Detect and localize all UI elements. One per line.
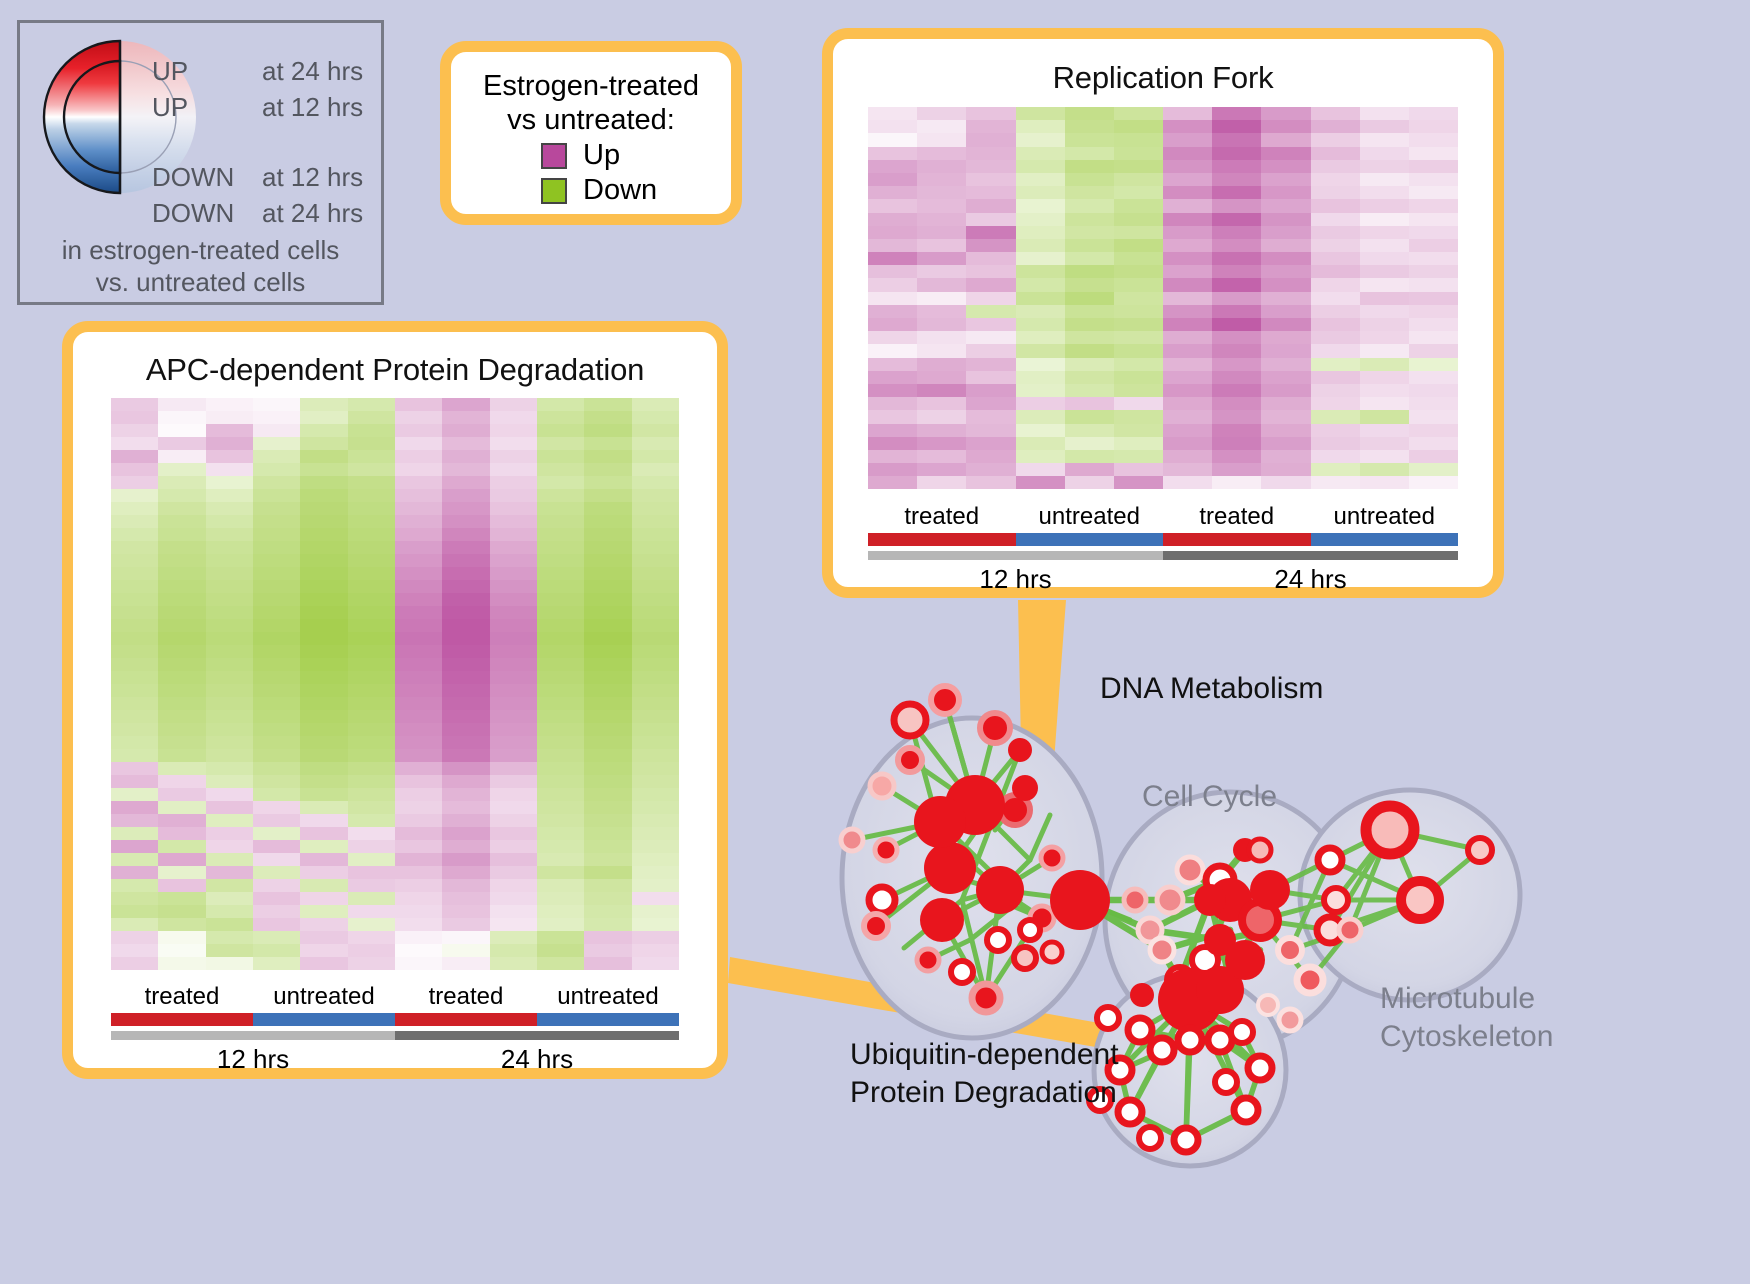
heatmap-cell xyxy=(395,931,442,944)
network-node[interactable] xyxy=(1234,1098,1258,1122)
heatmap-cell xyxy=(395,710,442,723)
network-node[interactable] xyxy=(1194,884,1226,916)
heatmap-cell xyxy=(584,853,631,866)
heatmap-cell xyxy=(1163,384,1212,397)
heatmap-cell xyxy=(1360,199,1409,212)
heatmap-cell xyxy=(395,671,442,684)
heatmap-cell xyxy=(348,853,395,866)
heatmap-cell xyxy=(111,775,158,788)
heatmap-cell xyxy=(632,749,679,762)
network-node[interactable] xyxy=(1014,947,1036,969)
heatmap-cell xyxy=(1065,107,1114,120)
heatmap-cell xyxy=(1409,265,1458,278)
heatmap-cell xyxy=(1311,265,1360,278)
heatmap-cell xyxy=(966,305,1015,318)
heatmap-cell xyxy=(1360,213,1409,226)
heatmap-cell xyxy=(1212,424,1261,437)
heatmap-cell xyxy=(1311,318,1360,331)
heatmap-cell xyxy=(1065,331,1114,344)
heatmap-cell xyxy=(300,541,347,554)
network-node[interactable] xyxy=(1177,857,1203,883)
heatmap-cell xyxy=(1212,252,1261,265)
heatmap-cell xyxy=(1114,410,1163,423)
heatmap-cell xyxy=(490,944,537,957)
heatmap-cell xyxy=(348,593,395,606)
heatmap-cell xyxy=(1261,410,1310,423)
heatmap-cell xyxy=(966,384,1015,397)
heatmap-cell xyxy=(348,697,395,710)
network-node[interactable] xyxy=(1339,919,1361,941)
heatmap-cell xyxy=(537,788,584,801)
heatmap-cell xyxy=(158,840,205,853)
heatmap-cell xyxy=(868,384,917,397)
heatmap-cell xyxy=(442,437,489,450)
network-node-hub[interactable] xyxy=(1250,870,1290,910)
heatmap-cell xyxy=(1311,437,1360,450)
heatmap-cell xyxy=(584,775,631,788)
heatmap-cell xyxy=(537,944,584,957)
heatmap-cell xyxy=(111,645,158,658)
heatmap-cell xyxy=(395,632,442,645)
heatmap-cell xyxy=(111,632,158,645)
heatmap-cell xyxy=(348,866,395,879)
network-node[interactable] xyxy=(870,774,894,798)
heatmap-cell xyxy=(1114,463,1163,476)
heatmap-cell xyxy=(111,944,158,957)
heatmap-cell xyxy=(966,133,1015,146)
heatmap-cell xyxy=(158,697,205,710)
heatmap-cell xyxy=(1065,160,1114,173)
heatmap-cell xyxy=(158,632,205,645)
heatmap-cell xyxy=(253,775,300,788)
heatmap-cell xyxy=(537,671,584,684)
heatmap-cell xyxy=(111,801,158,814)
heatmap-cell xyxy=(1065,199,1114,212)
heatmap-cell xyxy=(111,840,158,853)
treatment-bar-segment xyxy=(537,1013,679,1026)
heatmap-cell xyxy=(868,292,917,305)
network-node[interactable] xyxy=(1124,889,1146,911)
heatmap-cell xyxy=(111,918,158,931)
heatmap-cell xyxy=(1261,226,1310,239)
heatmap-cell xyxy=(1065,120,1114,133)
heatmap-cell xyxy=(966,397,1015,410)
network-node[interactable] xyxy=(1130,983,1154,1007)
heatmap-cell xyxy=(868,226,917,239)
heatmap-cell xyxy=(917,437,966,450)
heatmap-cell xyxy=(395,606,442,619)
key-time: at 24 hrs xyxy=(262,58,363,85)
heatmap-cell xyxy=(537,814,584,827)
apc-time-labels: 12 hrs 24 hrs xyxy=(111,1044,679,1075)
network-node[interactable] xyxy=(1042,942,1062,962)
heatmap-cell xyxy=(158,476,205,489)
heatmap-cell xyxy=(632,632,679,645)
heatmap-cell xyxy=(1311,120,1360,133)
heatmap-cell xyxy=(1311,186,1360,199)
heatmap-cell xyxy=(1114,199,1163,212)
network-node[interactable] xyxy=(841,829,863,851)
network-node[interactable] xyxy=(1041,847,1063,869)
heatmap-cell xyxy=(300,853,347,866)
heatmap-cell xyxy=(348,892,395,905)
heatmap-cell xyxy=(348,528,395,541)
heatmap-cell xyxy=(1311,133,1360,146)
network-node[interactable] xyxy=(1157,887,1183,913)
heatmap-cell xyxy=(537,645,584,658)
heatmap-cell xyxy=(632,710,679,723)
network-node[interactable] xyxy=(1401,881,1439,919)
heatmap-cell xyxy=(868,213,917,226)
heatmap-cell xyxy=(868,265,917,278)
heatmap-cell xyxy=(1065,410,1114,423)
heatmap-cell xyxy=(395,814,442,827)
heatmap-cell xyxy=(442,671,489,684)
heatmap-cell xyxy=(206,515,253,528)
heatmap-cell xyxy=(1065,173,1114,186)
network-node[interactable] xyxy=(1008,738,1032,762)
heatmap-cell xyxy=(348,762,395,775)
heatmap-cell xyxy=(300,437,347,450)
heatmap-cell xyxy=(253,749,300,762)
heatmap-cell xyxy=(490,697,537,710)
heatmap-cell xyxy=(206,502,253,515)
heatmap-cell xyxy=(584,567,631,580)
network-node[interactable] xyxy=(1468,838,1492,862)
heatmap-cell xyxy=(1261,107,1310,120)
heatmap-cell xyxy=(917,292,966,305)
heatmap-cell xyxy=(1360,450,1409,463)
heatmap-cell xyxy=(1409,397,1458,410)
heatmap-cell xyxy=(490,398,537,411)
heatmap-cell xyxy=(1261,463,1310,476)
heatmap-cell xyxy=(1016,173,1065,186)
heatmap-cell xyxy=(300,944,347,957)
heatmap-cell xyxy=(442,463,489,476)
network-node-hub[interactable] xyxy=(1225,940,1265,980)
heatmap-cell xyxy=(111,723,158,736)
heatmap-cell xyxy=(206,567,253,580)
heatmap-cell xyxy=(348,671,395,684)
heatmap-cell xyxy=(442,905,489,918)
network-node[interactable] xyxy=(875,839,897,861)
network-node[interactable] xyxy=(1258,995,1278,1015)
network-node[interactable] xyxy=(987,929,1009,951)
heatmap-cell xyxy=(1065,147,1114,160)
replication-fork-time-bar xyxy=(868,551,1458,560)
network-node[interactable] xyxy=(1174,1128,1198,1152)
heatmap-cell xyxy=(395,411,442,424)
heatmap-cell xyxy=(206,814,253,827)
network-node[interactable] xyxy=(1118,1100,1142,1124)
treatment-bar-segment xyxy=(868,533,1016,546)
heatmap-cell xyxy=(632,593,679,606)
heatmap-cell xyxy=(158,957,205,970)
network-node[interactable] xyxy=(917,949,939,971)
heatmap-cell xyxy=(395,684,442,697)
heatmap-cell xyxy=(917,226,966,239)
network-node[interactable] xyxy=(1012,775,1038,801)
heatmap-cell xyxy=(253,671,300,684)
heatmap-cell xyxy=(1261,147,1310,160)
heatmap-cell xyxy=(1114,173,1163,186)
heatmap-cell xyxy=(1114,213,1163,226)
heatmap-cell xyxy=(253,788,300,801)
heatmap-cell xyxy=(395,892,442,905)
heatmap-cell xyxy=(442,658,489,671)
heatmap-cell xyxy=(537,892,584,905)
heatmap-cell xyxy=(111,463,158,476)
heatmap-cell xyxy=(158,879,205,892)
network-node-hub[interactable] xyxy=(1366,806,1414,854)
heatmap-cell xyxy=(490,450,537,463)
network-node[interactable] xyxy=(1150,1038,1174,1062)
heatmap-cell xyxy=(1360,318,1409,331)
heatmap-cell xyxy=(537,567,584,580)
heatmap-cell xyxy=(442,632,489,645)
heatmap-cell xyxy=(917,397,966,410)
heatmap-cell xyxy=(442,424,489,437)
cluster-label-cytoskeleton: Cytoskeleton xyxy=(1380,1020,1553,1054)
network-node[interactable] xyxy=(1128,1018,1152,1042)
heatmap-cell xyxy=(1409,186,1458,199)
heatmap-cell xyxy=(1261,199,1310,212)
network-node[interactable] xyxy=(1324,888,1348,912)
heatmap-cell xyxy=(584,879,631,892)
heatmap-cell xyxy=(1212,331,1261,344)
heatmap-cell xyxy=(348,450,395,463)
heatmap-cell xyxy=(1360,160,1409,173)
heatmap-cell xyxy=(300,606,347,619)
heatmap-cell xyxy=(632,697,679,710)
heatmap-cell xyxy=(584,515,631,528)
heatmap-cell xyxy=(537,684,584,697)
heatmap-cell xyxy=(395,463,442,476)
heatmap-cell xyxy=(1261,160,1310,173)
heatmap-cell xyxy=(868,133,917,146)
heatmap-cell xyxy=(1163,186,1212,199)
heatmap-cell xyxy=(253,398,300,411)
network-node[interactable] xyxy=(1020,920,1040,940)
key-spacer xyxy=(152,125,384,159)
cluster-label-cell-cycle: Cell Cycle xyxy=(1142,780,1277,814)
network-node-hub[interactable] xyxy=(914,796,966,848)
heatmap-cell xyxy=(300,697,347,710)
network-node[interactable] xyxy=(1249,839,1271,861)
heatmap-cell xyxy=(584,723,631,736)
heatmap-cell xyxy=(1409,371,1458,384)
heatmap-cell xyxy=(111,593,158,606)
heatmap-cell xyxy=(632,827,679,840)
heatmap-cell xyxy=(1212,305,1261,318)
network-node[interactable] xyxy=(1297,967,1323,993)
network-node[interactable] xyxy=(1318,848,1342,872)
heatmap-cell xyxy=(442,450,489,463)
heatmap-cell xyxy=(632,762,679,775)
heatmap-cell xyxy=(158,814,205,827)
heatmap-cell xyxy=(1065,397,1114,410)
heatmap-cell xyxy=(253,632,300,645)
heatmap-cell xyxy=(111,671,158,684)
heatmap-cell xyxy=(584,645,631,658)
heatmap-cell xyxy=(348,905,395,918)
network-node[interactable] xyxy=(1097,1007,1119,1029)
heatmap-cell xyxy=(490,502,537,515)
heatmap-cell xyxy=(253,801,300,814)
heatmap-cell xyxy=(868,147,917,160)
heatmap-cell xyxy=(206,463,253,476)
heatmap-cell xyxy=(111,476,158,489)
heatmap-cell xyxy=(490,749,537,762)
heatmap-cell xyxy=(158,658,205,671)
network-node[interactable] xyxy=(980,713,1010,743)
network-node[interactable] xyxy=(951,961,973,983)
network-node[interactable] xyxy=(898,748,922,772)
heatmap-cell xyxy=(490,606,537,619)
heatmap-cell xyxy=(442,697,489,710)
heatmap-cell xyxy=(111,619,158,632)
heatmap-cell xyxy=(1114,107,1163,120)
heatmap-cell xyxy=(395,619,442,632)
network-node[interactable] xyxy=(864,914,888,938)
network-node-hub[interactable] xyxy=(976,866,1024,914)
network-node[interactable] xyxy=(1231,1021,1253,1043)
heatmap-cell xyxy=(442,593,489,606)
heatmap-cell xyxy=(1163,397,1212,410)
heatmap-cell xyxy=(868,344,917,357)
heatmap-cell xyxy=(1311,358,1360,371)
heatmap-cell xyxy=(632,736,679,749)
heatmap-cell xyxy=(537,437,584,450)
heatmap-cell xyxy=(158,892,205,905)
network-node[interactable] xyxy=(972,984,1000,1012)
network-node[interactable] xyxy=(1215,1071,1237,1093)
heatmap-cell xyxy=(253,853,300,866)
heatmap-cell xyxy=(206,762,253,775)
heatmap-cell xyxy=(1409,437,1458,450)
heatmap-cell xyxy=(1261,239,1310,252)
key-time: at 12 hrs xyxy=(262,164,363,191)
heatmap-cell xyxy=(966,226,1015,239)
heatmap-cell xyxy=(111,489,158,502)
heatmap-cell xyxy=(206,424,253,437)
heatmap-cell xyxy=(158,437,205,450)
heatmap-cell xyxy=(395,775,442,788)
heatmap-cell xyxy=(395,567,442,580)
network-node-bridge[interactable] xyxy=(1050,870,1110,930)
heatmap-cell xyxy=(537,632,584,645)
network-node[interactable] xyxy=(1278,938,1302,962)
heatmap-cell xyxy=(158,827,205,840)
heatmap-cell xyxy=(300,489,347,502)
network-node[interactable] xyxy=(1139,1127,1161,1149)
sample-label: treated xyxy=(111,983,253,1011)
network-node-hub[interactable] xyxy=(920,898,964,942)
heatmap-cell xyxy=(537,411,584,424)
heatmap-cell xyxy=(1016,344,1065,357)
heatmap-cell xyxy=(584,788,631,801)
heatmap-cell xyxy=(395,541,442,554)
heatmap-cell xyxy=(158,866,205,879)
heatmap-cell xyxy=(253,931,300,944)
network-node[interactable] xyxy=(894,704,926,736)
heatmap-cell xyxy=(537,749,584,762)
heatmap-cell xyxy=(442,879,489,892)
heatmap-cell xyxy=(868,186,917,199)
heatmap-cell xyxy=(253,840,300,853)
heatmap-cell xyxy=(395,515,442,528)
heatmap-cell xyxy=(632,814,679,827)
heatmap-cell xyxy=(1114,239,1163,252)
legend-item-up: Up xyxy=(541,139,715,172)
heatmap-cell xyxy=(1114,252,1163,265)
heatmap-cell xyxy=(300,580,347,593)
heatmap-cell xyxy=(442,853,489,866)
heatmap-cell xyxy=(395,801,442,814)
heatmap-cell xyxy=(537,918,584,931)
network-node[interactable] xyxy=(1248,1056,1272,1080)
heatmap-cell xyxy=(395,593,442,606)
heatmap-cell xyxy=(206,554,253,567)
heatmap-cell xyxy=(1065,213,1114,226)
updown-legend-card: Estrogen-treated vs untreated: Up Down xyxy=(440,41,742,225)
heatmap-cell xyxy=(917,107,966,120)
heatmap-cell xyxy=(1065,371,1114,384)
heatmap-cell xyxy=(632,931,679,944)
heatmap-cell xyxy=(158,723,205,736)
heatmap-cell xyxy=(206,658,253,671)
heatmap-cell xyxy=(537,723,584,736)
heatmap-cell xyxy=(442,710,489,723)
treatment-bar-segment xyxy=(395,1013,537,1026)
heatmap-cell xyxy=(632,476,679,489)
heatmap-cell xyxy=(348,632,395,645)
heatmap-cell xyxy=(395,944,442,957)
heatmap-cell xyxy=(300,736,347,749)
heatmap-cell xyxy=(300,463,347,476)
network-node-hub[interactable] xyxy=(924,842,976,894)
heatmap-cell xyxy=(442,749,489,762)
heatmap-cell xyxy=(348,944,395,957)
heatmap-cell xyxy=(253,658,300,671)
heatmap-cell xyxy=(1360,344,1409,357)
network-node[interactable] xyxy=(1178,1028,1202,1052)
heatmap-cell xyxy=(111,411,158,424)
heatmap-cell xyxy=(1261,476,1310,489)
heatmap-cell xyxy=(442,762,489,775)
network-node[interactable] xyxy=(1150,938,1174,962)
heatmap-cell xyxy=(1409,292,1458,305)
heatmap-cell xyxy=(917,213,966,226)
heatmap-cell xyxy=(442,554,489,567)
network-node[interactable] xyxy=(869,887,895,913)
heatmap-cell xyxy=(537,827,584,840)
legend-item-down: Down xyxy=(541,174,715,207)
heatmap-cell xyxy=(348,645,395,658)
treatment-bar-segment xyxy=(253,1013,395,1026)
heatmap-cell xyxy=(1016,147,1065,160)
heatmap-cell xyxy=(966,173,1015,186)
heatmap-cell xyxy=(1409,476,1458,489)
network-node[interactable] xyxy=(931,686,959,714)
heatmap-cell xyxy=(206,775,253,788)
heatmap-cell xyxy=(1311,344,1360,357)
heatmap-cell xyxy=(1016,331,1065,344)
network-node[interactable] xyxy=(1279,1009,1301,1031)
heatmap-cell xyxy=(1016,410,1065,423)
heatmap-cell xyxy=(1261,292,1310,305)
heatmap-cell xyxy=(111,697,158,710)
